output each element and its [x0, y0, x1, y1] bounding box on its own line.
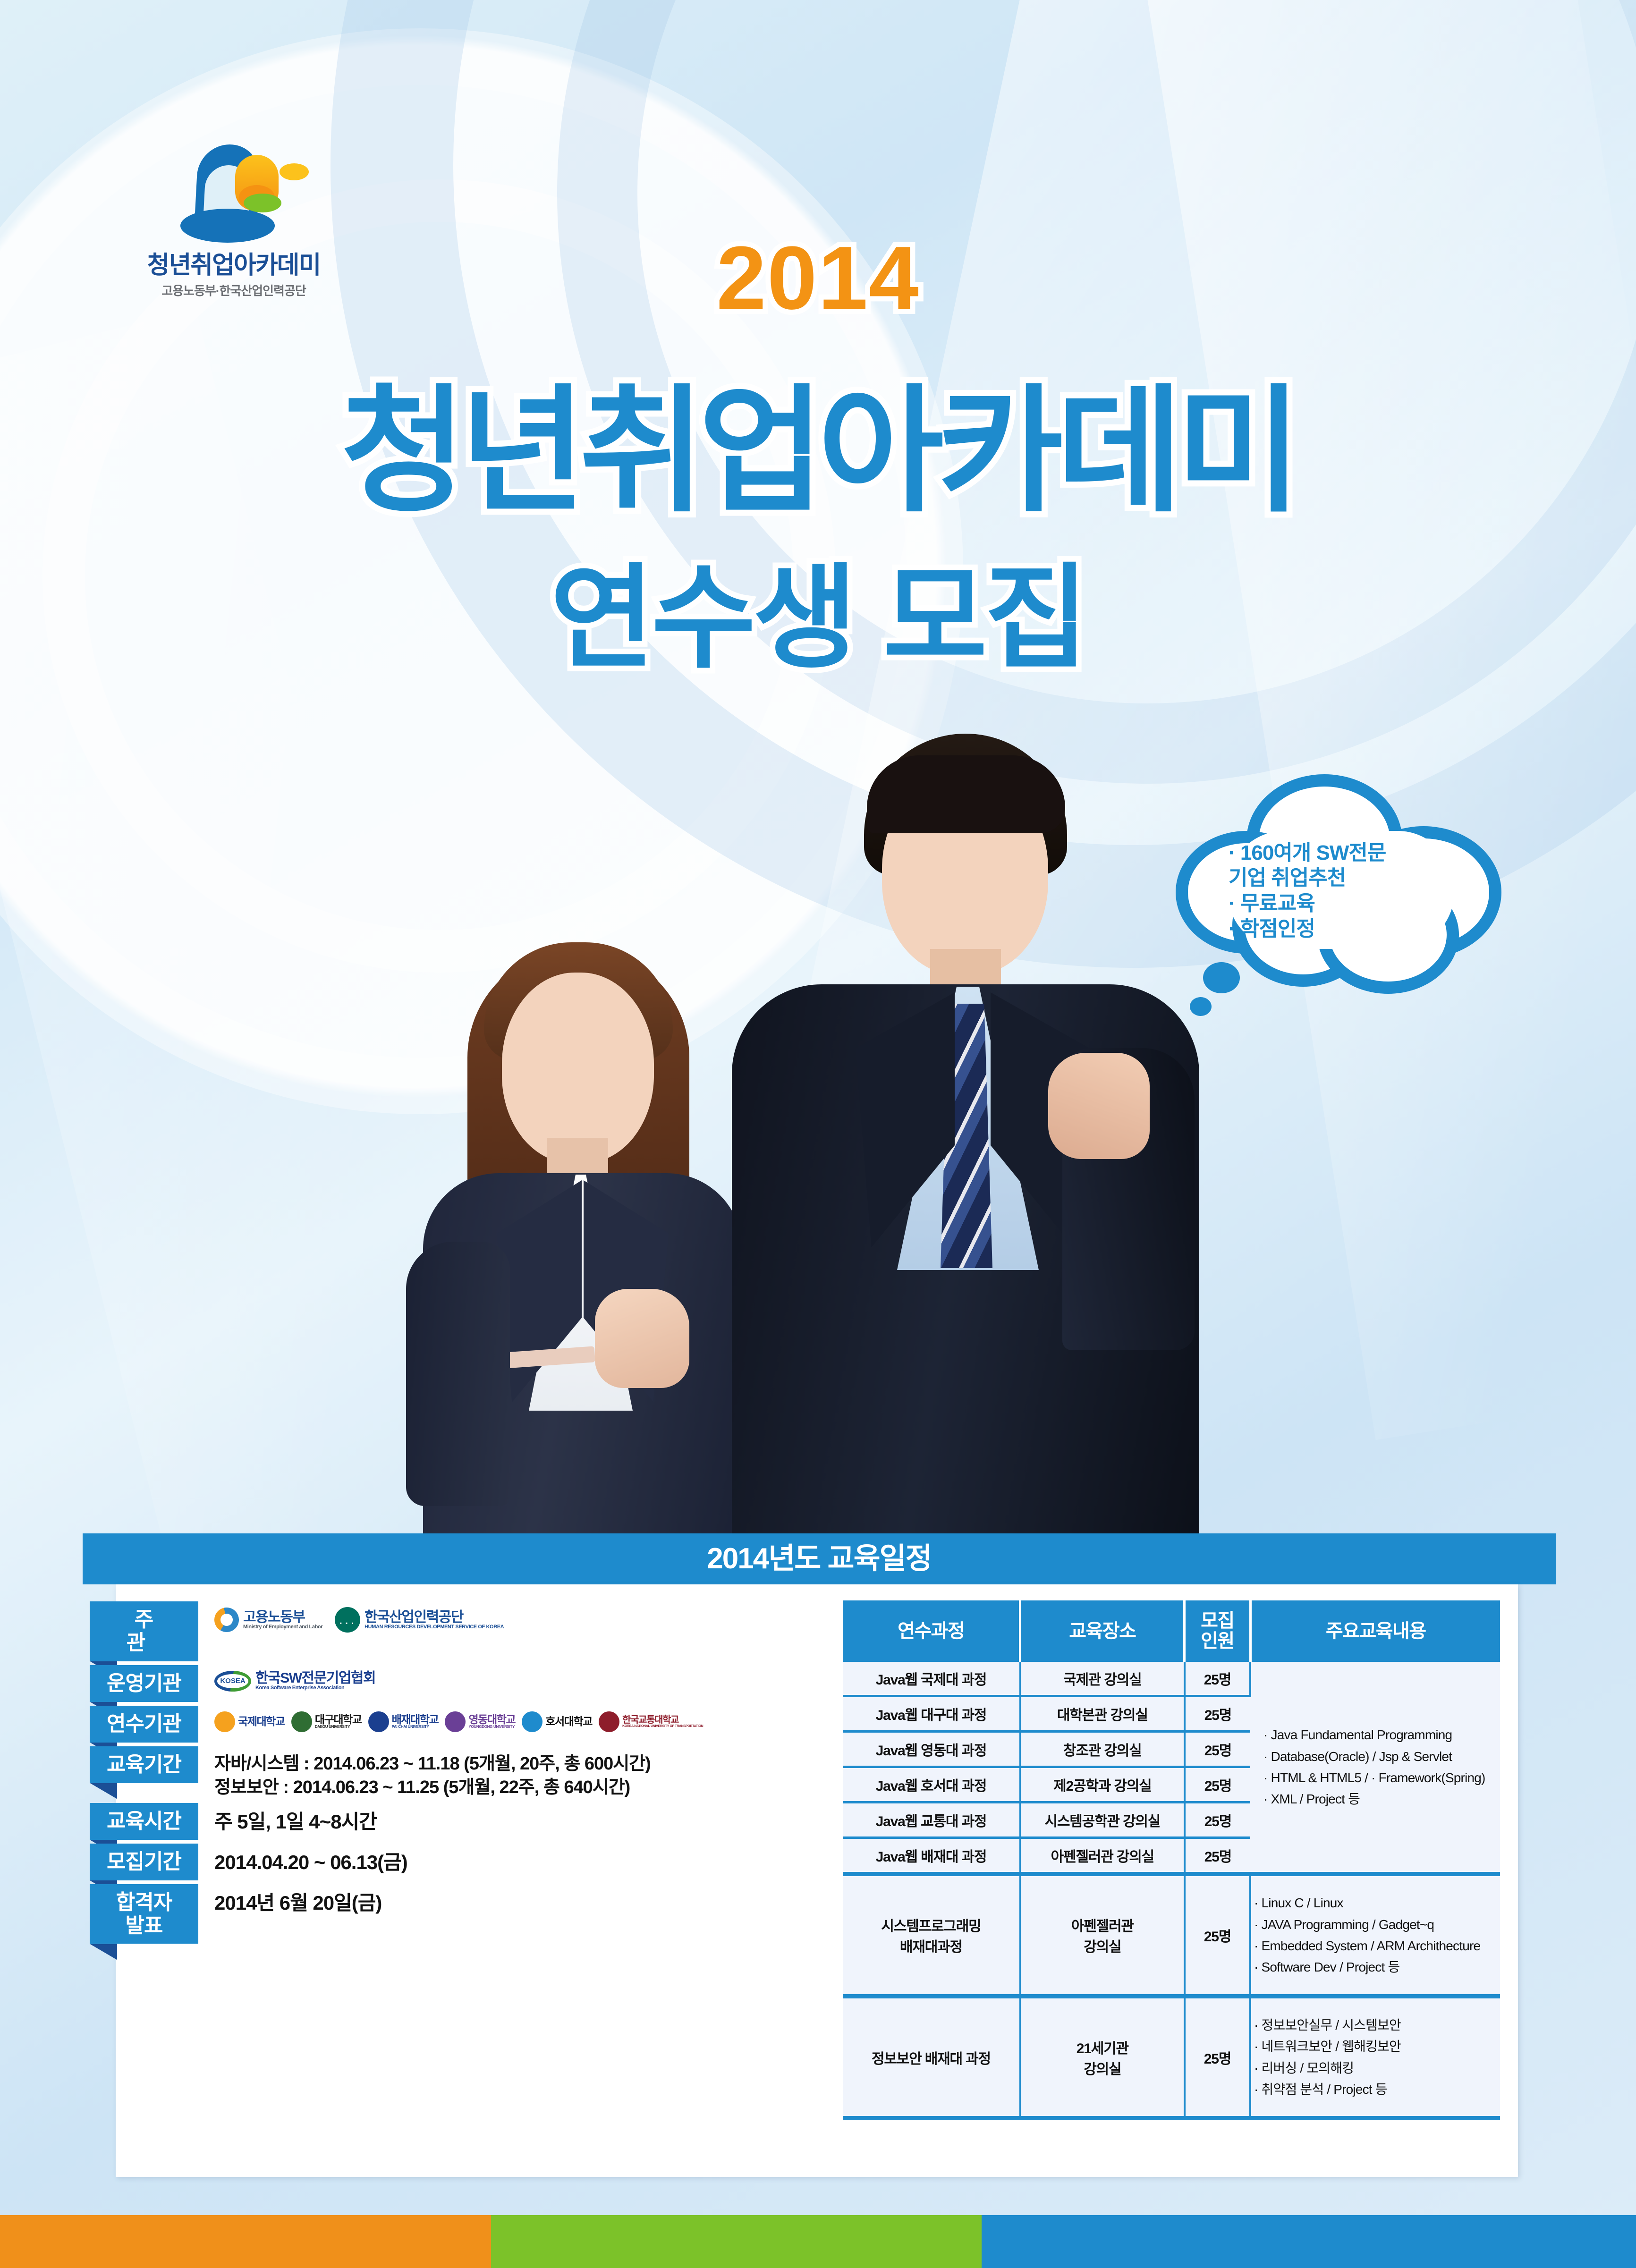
content-line: · 정보보안실무 / 시스템보안 [1254, 2014, 1497, 2036]
table-row: Java웹 국제대 과정 국제관 강의실 25명 · Java Fundamen… [843, 1662, 1500, 1696]
logo-name: 한국산업인력공단 [364, 1610, 504, 1625]
cell-course: Java웹 대구대 과정 [843, 1696, 1020, 1732]
content-line: · Embedded System / ARM Archithecture [1254, 1935, 1497, 1956]
th-quota-line: 모집 [1187, 1611, 1247, 1631]
cell-place-line: 21세기관 [1024, 2037, 1181, 2057]
logo-name-en: Korea Software Enterprise Association [255, 1685, 375, 1691]
info-value-announcement: 2014년 6월 20일(금) [198, 1884, 381, 1916]
logo-university: 영동대학교 YOUNGDONG UNIVERSITY [445, 1711, 515, 1732]
person-woman [387, 916, 774, 1534]
info-label-host: 주 관 [90, 1601, 198, 1661]
people-photo [331, 722, 1228, 1534]
headline-year: 2014 [0, 227, 1636, 330]
th-place: 교육장소 [1020, 1600, 1185, 1662]
th-quota-line: 인원 [1187, 1631, 1247, 1651]
cell-course: 정보보안 배재대 과정 [843, 1996, 1020, 2116]
cell-place: 21세기관 강의실 [1020, 1996, 1185, 2116]
logo-hrdkorea: 한국산업인력공단 HUMAN RESOURCES DEVELOPMENT SER… [335, 1607, 504, 1633]
cell-content: · 정보보안실무 / 시스템보안 · 네트워크보안 / 웹해킹보안 · 리버싱 … [1250, 1996, 1500, 2116]
page-title: 청년취업아카데미 [0, 340, 1636, 538]
cell-quota: 25명 [1185, 1767, 1250, 1803]
cell-place: 제2공학과 강의실 [1020, 1767, 1185, 1803]
university-logo-strip: 국제대학교 대구대학교 DAEGU UNIVERSITY [198, 1706, 703, 1732]
cell-content: · Java Fundamental Programming · Databas… [1250, 1662, 1500, 1874]
logo-university: 호서대학교 [522, 1711, 592, 1732]
cell-place: 아펜젤러관 강의실 [1020, 1874, 1185, 1996]
logo-name: 한국SW전문기업협회 [255, 1671, 375, 1685]
info-row-training-institutions: 연수기관 국제대학교 대구대학교 [116, 1706, 838, 1743]
cell-place: 시스템공학관 강의실 [1020, 1803, 1185, 1838]
cell-course: Java웹 영동대 과정 [843, 1732, 1020, 1767]
info-label-line: 발표 [126, 1914, 163, 1937]
footer-color-bar [0, 2215, 1636, 2268]
info-label-operator: 운영기관 [90, 1665, 198, 1702]
content-line: · 네트워크보안 / 웹해킹보안 [1254, 2036, 1497, 2057]
cell-course: Java웹 교통대 과정 [843, 1803, 1020, 1838]
bubble-benefit-list: · 160여개 SW전문 기업 취업추천 · 무료교육 · 학점인정 [1229, 832, 1465, 950]
logo-moel: 고용노동부 Ministry of Employment and Labor [214, 1608, 322, 1632]
logo-kosea: 한국SW전문기업협회 Korea Software Enterprise Ass… [214, 1671, 375, 1692]
university-mark-icon [368, 1711, 389, 1732]
kosea-mark-icon [214, 1671, 251, 1692]
content-line: · Software Dev / Project 등 [1254, 1956, 1497, 1978]
info-row-announcement: 합격자 발표 2014년 6월 20일(금) [116, 1884, 838, 1944]
university-mark-icon [214, 1711, 235, 1732]
logo-university: 국제대학교 [214, 1711, 285, 1732]
cell-place: 아펜젤러관 강의실 [1020, 1838, 1185, 1874]
cell-place: 대학본관 강의실 [1020, 1696, 1185, 1732]
info-label-training-period: 교육기간 [90, 1746, 198, 1783]
poster-root: 청년취업아카데미 고용노동부·한국산업인력공단 2014 청년취업아카데미 연수… [0, 0, 1636, 2268]
cell-place-line: 아펜젤러관 [1024, 1914, 1181, 1935]
info-value-training-hours: 주 5일, 1일 4~8시간 [198, 1803, 377, 1835]
footer-band-orange [0, 2215, 491, 2268]
info-value-recruit-period: 2014.04.20 ~ 06.13(금) [198, 1844, 407, 1875]
info-label-announcement: 합격자 발표 [90, 1884, 198, 1944]
logo-university: 대구대학교 DAEGU UNIVERSITY [291, 1711, 362, 1732]
info-value-training-period: 자바/시스템 : 2014.06.23 ~ 11.18 (5개월, 20주, 총… [198, 1746, 651, 1799]
content-panel: 주 관 고용노동부 Ministry of Employment and Lab… [116, 1584, 1518, 2177]
university-mark-icon [522, 1711, 543, 1732]
chip-fold [90, 1783, 117, 1799]
cell-place: 국제관 강의실 [1020, 1662, 1185, 1696]
content-line: · 리버싱 / 모의해킹 [1254, 2057, 1497, 2079]
logo-name-en: Ministry of Employment and Labor [243, 1625, 322, 1630]
content-line: · XML / Project 등 [1263, 1788, 1497, 1810]
info-row-operator: 운영기관 한국SW전문기업협회 Korea Software Enterpris… [116, 1665, 838, 1702]
table-header-row: 연수과정 교육장소 모집 인원 주요교육내용 [843, 1600, 1500, 1662]
footer-band-blue [982, 2215, 1636, 2268]
cell-quota: 25명 [1185, 1996, 1250, 2116]
page-subtitle: 연수생 모집 [0, 526, 1636, 690]
university-name: 호서대학교 [545, 1716, 592, 1727]
cell-course-line: 배재대과정 [846, 1935, 1017, 1956]
content-line: · Java Fundamental Programming [1263, 1724, 1497, 1745]
cell-course: 시스템프로그래밍 배재대과정 [843, 1874, 1020, 1996]
university-mark-icon [599, 1711, 619, 1732]
info-column: 주 관 고용노동부 Ministry of Employment and Lab… [116, 1584, 838, 2177]
table-bottom-rule [843, 2116, 1500, 2120]
cell-course: Java웹 배재대 과정 [843, 1838, 1020, 1874]
footer-band-green [491, 2215, 982, 2268]
logo-university: 한국교통대학교 KOREA NATIONAL UNIVERSITY OF TRA… [599, 1711, 703, 1732]
cell-quota: 25명 [1185, 1874, 1250, 1996]
logo-name-en: HUMAN RESOURCES DEVELOPMENT SERVICE OF K… [364, 1625, 504, 1630]
university-mark-icon [291, 1711, 312, 1732]
logo-university: 배재대학교 PAI CHAI UNIVERSITY [368, 1711, 439, 1732]
cell-place: 창조관 강의실 [1020, 1732, 1185, 1767]
cell-quota: 25명 [1185, 1732, 1250, 1767]
bubble-line: · 무료교육 [1229, 891, 1465, 916]
info-row-training-period: 교육기간 자바/시스템 : 2014.06.23 ~ 11.18 (5개월, 2… [116, 1746, 838, 1799]
hrdkorea-mark-icon [335, 1607, 360, 1633]
cell-quota: 25명 [1185, 1696, 1250, 1732]
content-line: · JAVA Programming / Gadget~q [1254, 1914, 1497, 1935]
university-name: 대구대학교 [315, 1714, 362, 1725]
content-line: · 취약점 분석 / Project 등 [1254, 2079, 1497, 2100]
info-value-line: 자바/시스템 : 2014.06.23 ~ 11.18 (5개월, 20주, 총… [214, 1752, 651, 1776]
cell-quota: 25명 [1185, 1838, 1250, 1874]
host-logo-strip: 고용노동부 Ministry of Employment and Labor 한… [198, 1601, 504, 1633]
content-line: · HTML & HTML5 / · Framework(Spring) [1263, 1767, 1497, 1788]
bubble-tail-large [1203, 962, 1240, 993]
cell-course: Java웹 호서대 과정 [843, 1767, 1020, 1803]
info-row-training-hours: 교육시간 주 5일, 1일 4~8시간 [116, 1803, 838, 1840]
course-table: 연수과정 교육장소 모집 인원 주요교육내용 Java웹 국제대 과정 국제관 … [843, 1600, 1500, 2116]
info-label-recruit-period: 모집기간 [90, 1844, 198, 1880]
university-name-en: YOUNGDONG UNIVERSITY [468, 1725, 515, 1729]
university-name: 영동대학교 [468, 1714, 515, 1725]
info-label-training-hours: 교육시간 [90, 1803, 198, 1840]
moel-mark-icon [214, 1608, 239, 1632]
bubble-line: 기업 취업추천 [1229, 865, 1465, 891]
cell-quota: 25명 [1185, 1803, 1250, 1838]
cell-quota: 25명 [1185, 1662, 1250, 1696]
info-label-training-institutions: 연수기관 [90, 1706, 198, 1743]
university-name: 국제대학교 [238, 1716, 285, 1727]
university-name-en: PAI CHAI UNIVERSITY [392, 1725, 439, 1729]
info-label-line: 합격자 [116, 1891, 172, 1914]
info-value-line: 정보보안 : 2014.06.23 ~ 11.25 (5개월, 22주, 총 6… [214, 1776, 651, 1799]
university-name-en: KOREA NATIONAL UNIVERSITY OF TRANSPORTAT… [622, 1725, 703, 1728]
university-name: 한국교통대학교 [622, 1715, 703, 1725]
info-row-recruit-period: 모집기간 2014.04.20 ~ 06.13(금) [116, 1844, 838, 1880]
cell-content: · Linux C / Linux · JAVA Programming / G… [1250, 1874, 1500, 1996]
university-name-en: DAEGU UNIVERSITY [315, 1725, 362, 1729]
university-mark-icon [445, 1711, 466, 1732]
university-name: 배재대학교 [392, 1714, 439, 1725]
cell-course-line: 시스템프로그래밍 [846, 1914, 1017, 1935]
table-row: 시스템프로그래밍 배재대과정 아펜젤러관 강의실 25명 · Linux C /… [843, 1874, 1500, 1996]
th-content: 주요교육내용 [1250, 1600, 1500, 1662]
schedule-banner: 2014년도 교육일정 [83, 1533, 1556, 1584]
logo-name: 고용노동부 [243, 1610, 322, 1625]
person-man [722, 722, 1204, 1534]
course-table-wrapper: 연수과정 교육장소 모집 인원 주요교육내용 Java웹 국제대 과정 국제관 … [838, 1584, 1518, 2177]
th-course: 연수과정 [843, 1600, 1020, 1662]
bubble-line: · 학점인정 [1229, 916, 1465, 942]
th-quota: 모집 인원 [1185, 1600, 1250, 1662]
cell-place-line: 강의실 [1024, 1935, 1181, 1956]
chip-fold [90, 1944, 117, 1960]
cell-place-line: 강의실 [1024, 2057, 1181, 2078]
bubble-tail-small [1190, 997, 1212, 1016]
operator-logo-strip: 한국SW전문기업협회 Korea Software Enterprise Ass… [198, 1665, 375, 1692]
content-line: · Database(Oracle) / Jsp & Servlet [1263, 1746, 1497, 1767]
info-row-host: 주 관 고용노동부 Ministry of Employment and Lab… [116, 1601, 838, 1661]
content-line: · Linux C / Linux [1254, 1892, 1497, 1913]
bubble-line: · 160여개 SW전문 [1229, 840, 1465, 866]
thought-bubble: · 160여개 SW전문 기업 취업추천 · 무료교육 · 학점인정 [1176, 774, 1501, 996]
cell-course: Java웹 국제대 과정 [843, 1662, 1020, 1696]
table-row: 정보보안 배재대 과정 21세기관 강의실 25명 · 정보보안실무 / 시스템… [843, 1996, 1500, 2116]
